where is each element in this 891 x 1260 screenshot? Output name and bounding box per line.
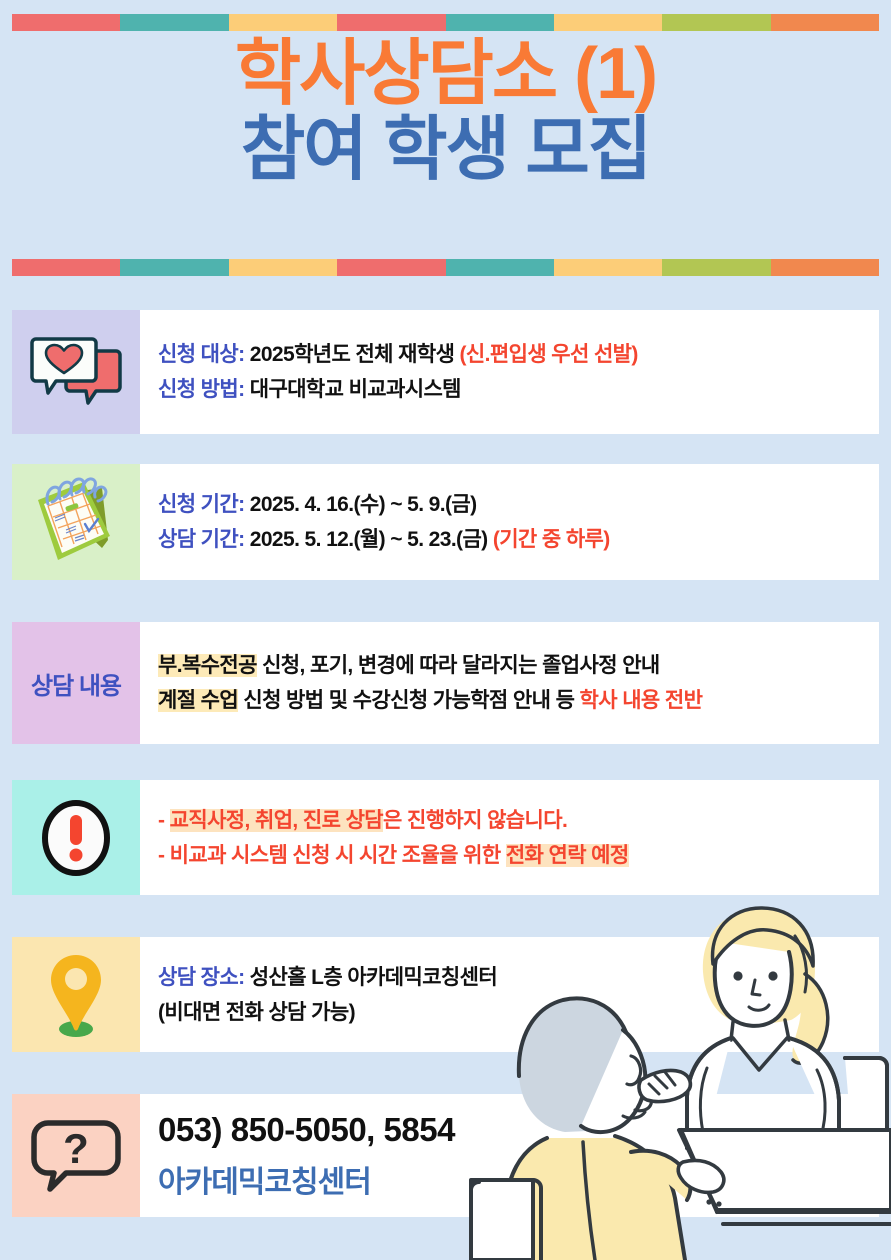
icon-box-location [12,937,140,1052]
stripe-segment-3 [229,14,337,31]
row4-line-1: - 교직사정, 취업, 진로 상담은 진행하지 않습니다. [158,810,869,831]
stripe-segment-8 [771,14,879,31]
row1-line-2: 신청 방법: 대구대학교 비교과시스템 [158,379,869,400]
stripe-segment-6 [554,259,662,276]
stripe-segment-7 [662,259,770,276]
stripe-segment-1 [12,14,120,31]
text-box-application: 신청 대상: 2025학년도 전체 재학생 (신.편입생 우선 선발) 신청 방… [140,310,879,434]
stripe-segment-5 [446,259,554,276]
stripe-segment-1 [12,259,120,276]
info-row-contact: ? 053) 850-5050, 5854 아카데믹코칭센터 [12,1094,879,1217]
icon-box-period [12,464,140,580]
row4-line-2: - 비교과 시스템 신청 시 시간 조율을 위한 전화 연락 예정 [158,845,869,866]
icon-box-application [12,310,140,434]
content-box-label: 상담 내용 [31,666,121,701]
stripe-segment-5 [446,14,554,31]
stripe-segment-8 [771,259,879,276]
speech-bubble-heart-icon [30,335,122,409]
info-row-notice: - 교직사정, 취업, 진로 상담은 진행하지 않습니다. - 비교과 시스템 … [12,780,879,895]
stripe-segment-4 [337,14,445,31]
info-row-application: 신청 대상: 2025학년도 전체 재학생 (신.편입생 우선 선발) 신청 방… [12,310,879,434]
contact-organization: 아카데믹코칭센터 [158,1157,869,1201]
text-box-notice: - 교직사정, 취업, 진로 상담은 진행하지 않습니다. - 비교과 시스템 … [140,780,879,895]
stripe-segment-3 [229,259,337,276]
text-box-location: 상담 장소: 성산홀 L층 아카데믹코칭센터 (비대면 전화 상담 가능) [140,937,879,1052]
row2-line-1: 신청 기간: 2025. 4. 16.(수) ~ 5. 9.(금) [158,494,869,515]
row5-line-1: 상담 장소: 성산홀 L층 아카데믹코칭센터 [158,967,869,988]
text-box-content: 부.복수전공 신청, 포기, 변경에 따라 달라지는 졸업사정 안내 계절 수업… [140,622,879,744]
exclamation-circle-icon [37,796,115,880]
row5-line-2: (비대면 전화 상담 가능) [158,1002,869,1023]
question-speech-bubble-icon: ? [28,1115,124,1197]
icon-box-content: 상담 내용 [12,622,140,744]
bottom-color-stripe [12,259,879,276]
map-pin-icon [44,949,108,1041]
stripe-segment-2 [120,14,228,31]
poster-root: 학사상담소 (1) 참여 학생 모집 신청 대상: 2025학년도 전체 재학생… [0,0,891,1260]
title-line-2: 참여 학생 모집 [0,114,891,184]
svg-text:?: ? [63,1125,89,1172]
row2-line-2: 상담 기간: 2025. 5. 12.(월) ~ 5. 23.(금) (기간 중… [158,529,869,550]
info-row-content: 상담 내용 부.복수전공 신청, 포기, 변경에 따라 달라지는 졸업사정 안내… [12,622,879,744]
poster-title: 학사상담소 (1) 참여 학생 모집 [0,38,891,184]
stripe-segment-7 [662,14,770,31]
stripe-segment-4 [337,259,445,276]
desk-calendar-icon [24,474,128,570]
info-row-location: 상담 장소: 성산홀 L층 아카데믹코칭센터 (비대면 전화 상담 가능) [12,937,879,1052]
row1-line-1: 신청 대상: 2025학년도 전체 재학생 (신.편입생 우선 선발) [158,344,869,365]
top-color-stripe [12,14,879,31]
title-line-1: 학사상담소 (1) [0,38,891,110]
icon-box-notice [12,780,140,895]
stripe-segment-6 [554,14,662,31]
row3-line-1: 부.복수전공 신청, 포기, 변경에 따라 달라지는 졸업사정 안내 [158,655,869,676]
text-box-contact: 053) 850-5050, 5854 아카데믹코칭센터 [140,1094,879,1217]
info-row-period: 신청 기간: 2025. 4. 16.(수) ~ 5. 9.(금) 상담 기간:… [12,464,879,580]
stripe-segment-2 [120,259,228,276]
contact-phone-number: 053) 850-5050, 5854 [158,1111,869,1149]
row3-line-2: 계절 수업 신청 방법 및 수강신청 가능학점 안내 등 학사 내용 전반 [158,690,869,711]
text-box-period: 신청 기간: 2025. 4. 16.(수) ~ 5. 9.(금) 상담 기간:… [140,464,879,580]
icon-box-contact: ? [12,1094,140,1217]
